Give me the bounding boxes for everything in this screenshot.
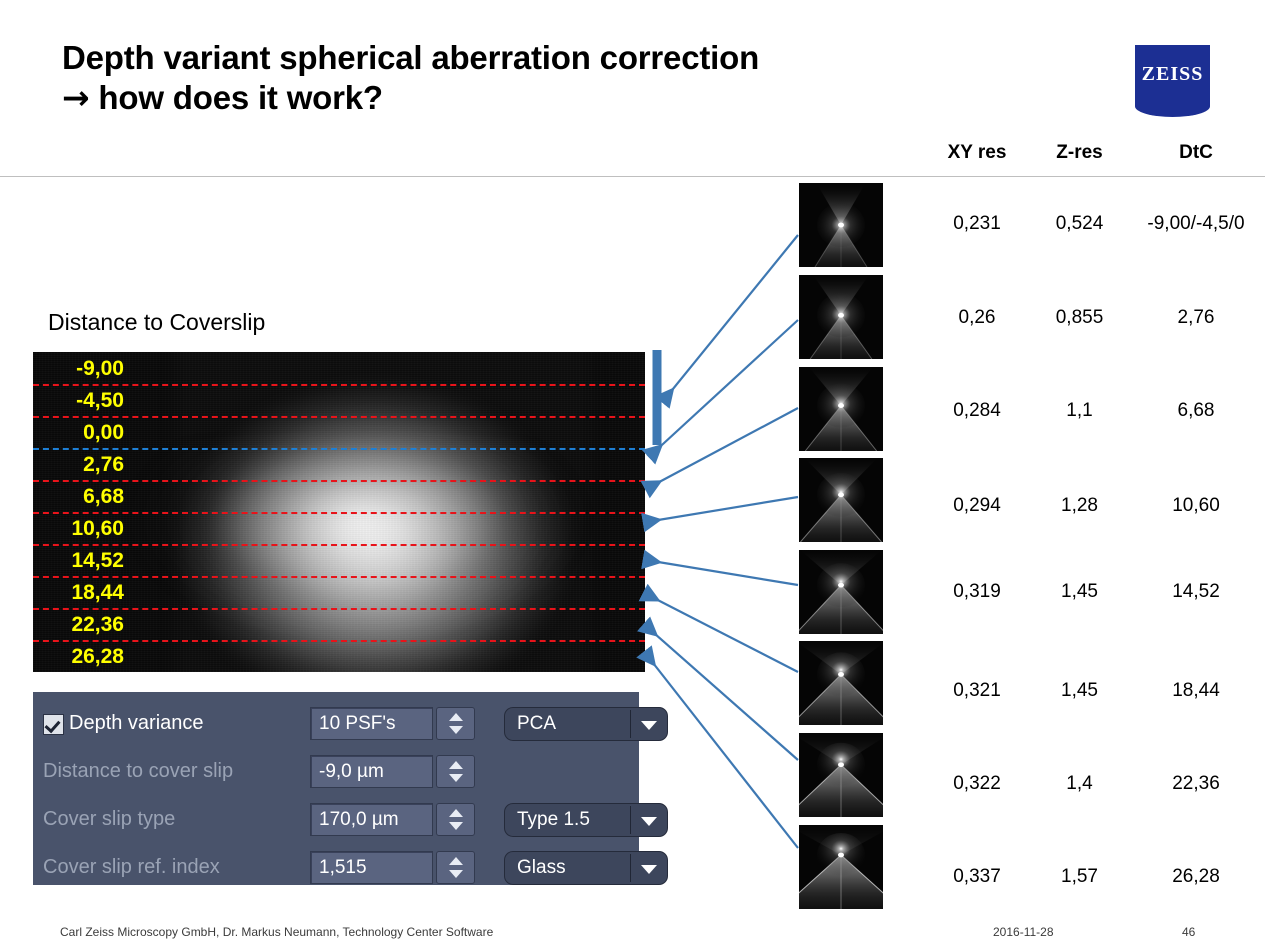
stepper-up-icon[interactable] [449,761,463,769]
title-line-1: Depth variant spherical aberration corre… [62,39,759,76]
psf-thumbnail [799,367,883,451]
depth-variance-checkbox[interactable] [43,714,64,735]
cell-dtc: 18,44 [1127,680,1265,702]
psf-render [799,641,883,725]
psf-render [799,550,883,634]
page-title: Depth variant spherical aberration corre… [62,38,922,119]
depth-label: 26,28 [36,645,124,669]
panel-row: Depth variance10 PSF'sPCA [33,702,639,746]
cell-dtc: 10,60 [1127,495,1265,517]
value-stepper[interactable]: 10 PSF's [310,707,475,742]
value-text: 170,0 µm [319,809,399,831]
arrow-to-band-1 [664,235,798,400]
psf-render [799,825,883,909]
option-dropdown[interactable]: Type 1.5 [504,803,668,837]
depth-label: 18,44 [36,581,124,605]
value-field[interactable]: 1,515 [310,851,433,884]
footer-page-number: 46 [1182,925,1195,939]
chevron-down-icon[interactable] [641,865,657,874]
arrow-to-band-7 [646,626,798,760]
depth-divider-line [33,544,645,546]
cell-z-res: 1,28 [1032,495,1127,517]
depth-divider-line [33,512,645,514]
arrow-to-band-2 [651,320,798,455]
stepper-buttons[interactable] [436,755,475,788]
panel-row-label: Cover slip ref. index [43,856,220,879]
coverslip-line [33,448,645,450]
zeiss-logo: ZEISS [1135,45,1210,117]
arrow-to-band-8 [646,654,798,848]
depth-divider-line [33,576,645,578]
cell-dtc: 22,36 [1127,773,1265,795]
stepper-up-icon[interactable] [449,713,463,721]
table-row: 0,260,8552,76 [922,307,1265,328]
stepper-up-icon[interactable] [449,857,463,865]
value-field[interactable]: -9,0 µm [310,755,433,788]
distance-to-coverslip-label: Distance to Coverslip [48,309,265,336]
footer-credit: Carl Zeiss Microscopy GmbH, Dr. Markus N… [60,925,493,939]
cell-xy-res: 0,26 [922,307,1032,329]
column-header-xy-res: XY res [922,142,1032,164]
dropdown-value: PCA [517,713,556,735]
panel-row: Cover slip ref. index1,515Glass [33,846,639,890]
stepper-buttons[interactable] [436,803,475,836]
psf-thumbnail [799,183,883,267]
column-header-z-res: Z-res [1032,142,1127,164]
dropdown-value: Glass [517,857,566,879]
value-stepper[interactable]: -9,0 µm [310,755,475,790]
dropdown-separator [630,854,631,882]
right-arrow-icon: → [62,78,89,117]
dropdown-value: Type 1.5 [517,809,590,831]
title-line-2-text: how does it work? [89,79,382,116]
cell-z-res: 1,4 [1032,773,1127,795]
table-row: 0,3221,422,36 [922,773,1265,794]
depth-divider-line [33,640,645,642]
stepper-down-icon[interactable] [449,726,463,734]
value-stepper[interactable]: 1,515 [310,851,475,886]
psf-render [799,275,883,359]
arrow-to-band-6 [646,594,798,672]
psf-render [799,367,883,451]
psf-thumbnail [799,458,883,542]
stepper-down-icon[interactable] [449,870,463,878]
option-dropdown[interactable]: PCA [504,707,668,741]
table-row: 0,3211,4518,44 [922,680,1265,701]
cell-dtc: -9,00/-4,5/0 [1127,213,1265,235]
cell-xy-res: 0,322 [922,773,1032,795]
cell-xy-res: 0,231 [922,213,1032,235]
arrow-to-band-5 [646,560,798,585]
results-table-header: XY res Z-res DtC [922,142,1265,172]
results-table-body: 0,2310,524-9,00/-4,5/00,260,8552,760,284… [922,183,1265,918]
cell-xy-res: 0,319 [922,581,1032,603]
cell-z-res: 0,855 [1032,307,1127,329]
cell-xy-res: 0,337 [922,866,1032,888]
cell-z-res: 1,45 [1032,680,1127,702]
dropdown-separator [630,806,631,834]
cell-z-res: 0,524 [1032,213,1127,235]
psf-thumbnail [799,550,883,634]
cell-z-res: 1,57 [1032,866,1127,888]
stepper-down-icon[interactable] [449,822,463,830]
panel-row-label: Distance to cover slip [43,760,233,783]
psf-render [799,458,883,542]
depth-label: 6,68 [36,485,124,509]
panel-row: Cover slip type170,0 µmType 1.5 [33,798,639,842]
arrow-to-band-4 [646,497,798,522]
psf-render [799,183,883,267]
table-row: 0,2310,524-9,00/-4,5/0 [922,213,1265,234]
depth-label: 0,00 [36,421,124,445]
dropdown-separator [630,710,631,738]
psf-thumbnail [799,275,883,359]
depth-label: -9,00 [36,357,124,381]
value-text: 1,515 [319,857,367,879]
depth-label: -4,50 [36,389,124,413]
cell-xy-res: 0,294 [922,495,1032,517]
depth-label: 14,52 [36,549,124,573]
stepper-down-icon[interactable] [449,774,463,782]
slide-root: Depth variant spherical aberration corre… [0,0,1265,948]
arrow-to-band-3 [648,408,798,488]
stepper-buttons[interactable] [436,707,475,740]
chevron-down-icon[interactable] [641,817,657,826]
depth-divider-line [33,480,645,482]
depth-divider-line [33,416,645,418]
depth-label: 2,76 [36,453,124,477]
psf-thumbnail [799,825,883,909]
cell-dtc: 6,68 [1127,400,1265,422]
table-row: 0,2941,2810,60 [922,495,1265,516]
footer-date: 2016-11-28 [993,925,1054,939]
microscopy-image [33,352,645,672]
psf-render [799,733,883,817]
stepper-buttons[interactable] [436,851,475,884]
depth-label: 10,60 [36,517,124,541]
header-divider [0,176,1265,177]
psf-thumbnail [799,641,883,725]
title-line-2: → how does it work? [62,78,922,118]
cell-z-res: 1,45 [1032,581,1127,603]
option-dropdown[interactable]: Glass [504,851,668,885]
cell-xy-res: 0,284 [922,400,1032,422]
value-text: 10 PSF's [319,713,396,735]
panel-row-label: Cover slip type [43,808,175,831]
cell-dtc: 14,52 [1127,581,1265,603]
stepper-up-icon[interactable] [449,809,463,817]
cell-dtc: 26,28 [1127,866,1265,888]
logo-wordmark: ZEISS [1135,63,1210,86]
psf-thumbnail [799,733,883,817]
table-row: 0,3371,5726,28 [922,866,1265,887]
table-row: 0,3191,4514,52 [922,581,1265,602]
column-header-dtc: DtC [1127,142,1265,164]
value-field[interactable]: 10 PSF's [310,707,433,740]
value-stepper[interactable]: 170,0 µm [310,803,475,838]
value-field[interactable]: 170,0 µm [310,803,433,836]
cell-dtc: 2,76 [1127,307,1265,329]
depth-divider-line [33,608,645,610]
value-text: -9,0 µm [319,761,384,783]
depth-variance-panel[interactable]: Depth variance10 PSF'sPCADistance to cov… [33,692,639,885]
depth-divider-line [33,384,645,386]
depth-label: 22,36 [36,613,124,637]
cell-xy-res: 0,321 [922,680,1032,702]
panel-row-label: Depth variance [69,712,204,735]
table-row: 0,2841,16,68 [922,400,1265,421]
cell-z-res: 1,1 [1032,400,1127,422]
panel-row: Distance to cover slip-9,0 µm [33,750,639,794]
chevron-down-icon[interactable] [641,721,657,730]
